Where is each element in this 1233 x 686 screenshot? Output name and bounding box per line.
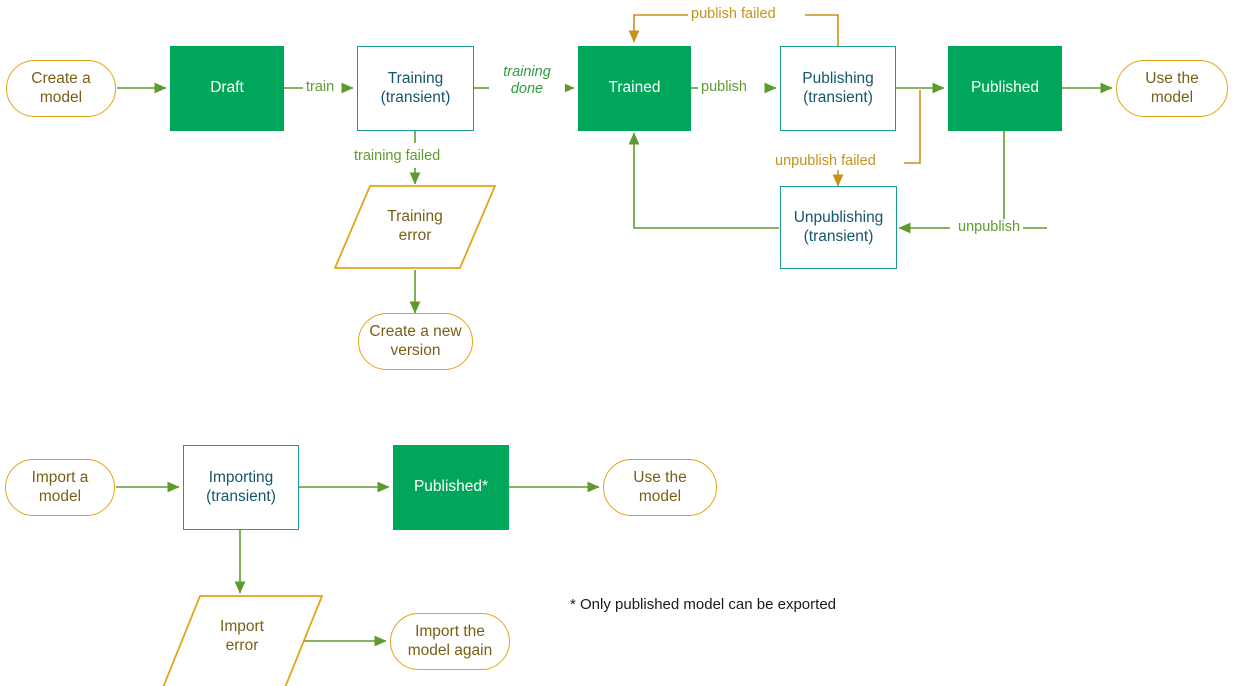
node-label-line2: (transient) [802,89,874,108]
edge-label-training-failed: training failed [351,148,443,165]
node-label-line1: Use the [1145,70,1198,89]
edge-label-unpublish-failed: unpublish failed [772,153,879,170]
edge-unpublishing-to-trained [634,133,779,228]
edge-label-publish-failed: publish failed [688,6,779,23]
node-published-star[interactable]: Published* [393,445,509,530]
diagram-canvas: Create a model Draft Training (transient… [0,0,1233,686]
node-training[interactable]: Training (transient) [357,46,474,131]
node-import-a-model[interactable]: Import a model [5,459,115,516]
node-label-line1: Create a [31,70,90,89]
node-label-line2: error [220,637,264,656]
node-unpublishing[interactable]: Unpublishing (transient) [780,186,897,269]
node-label-line1: Create a new [369,323,461,342]
node-label-line2: (transient) [206,488,276,507]
node-draft[interactable]: Draft [170,46,284,131]
node-create-a-model[interactable]: Create a model [6,60,116,117]
node-label-line2: model again [408,642,492,661]
edge-label-train: train [303,79,337,96]
node-label-line2: error [387,227,442,246]
node-label-line2: version [369,342,461,361]
node-label-line1: Publishing [802,70,874,89]
node-training-error[interactable]: Training error [333,184,497,270]
node-label: Published* [414,478,488,497]
node-use-the-model[interactable]: Use the model [1116,60,1228,117]
node-published[interactable]: Published [948,46,1062,131]
node-label: Draft [210,79,244,98]
node-trained[interactable]: Trained [578,46,691,131]
node-label-line1: Use the [633,469,686,488]
node-label-line1: Unpublishing [794,209,884,228]
node-importing[interactable]: Importing (transient) [183,445,299,530]
node-label-line2: model [31,89,90,108]
edge-label-unpublish: unpublish [955,219,1023,236]
node-label-line2: model [1145,89,1198,108]
node-label: Published [971,79,1039,98]
node-label-line1: Training [381,70,451,89]
node-import-the-model-again[interactable]: Import the model again [390,613,510,670]
edge-unpublishfailed-right [904,90,920,163]
node-label-line1: Training [387,208,442,227]
node-create-a-new-version[interactable]: Create a new version [358,313,473,370]
node-publishing[interactable]: Publishing (transient) [780,46,896,131]
node-label-line2: model [633,488,686,507]
edge-label-training-done: training done [489,64,565,98]
node-label-line2: (transient) [381,89,451,108]
node-label-line1: Importing [206,469,276,488]
edge-label-publish: publish [698,79,750,96]
node-label: Trained [609,79,661,98]
node-label-line1: Import a [32,469,89,488]
edge-published-down-to-unpublish [1004,131,1047,228]
node-label-line1: Import [220,618,264,637]
node-label-line2: (transient) [794,228,884,247]
node-label-line1: Import the [408,623,492,642]
edge-publishfailed-right [805,15,838,46]
footnote-text: * Only published model can be exported [570,596,836,613]
node-import-error[interactable]: Import error [160,594,324,686]
edge-publishfailed-into-trained [634,15,688,42]
node-use-the-model-2[interactable]: Use the model [603,459,717,516]
node-label-line2: model [32,488,89,507]
